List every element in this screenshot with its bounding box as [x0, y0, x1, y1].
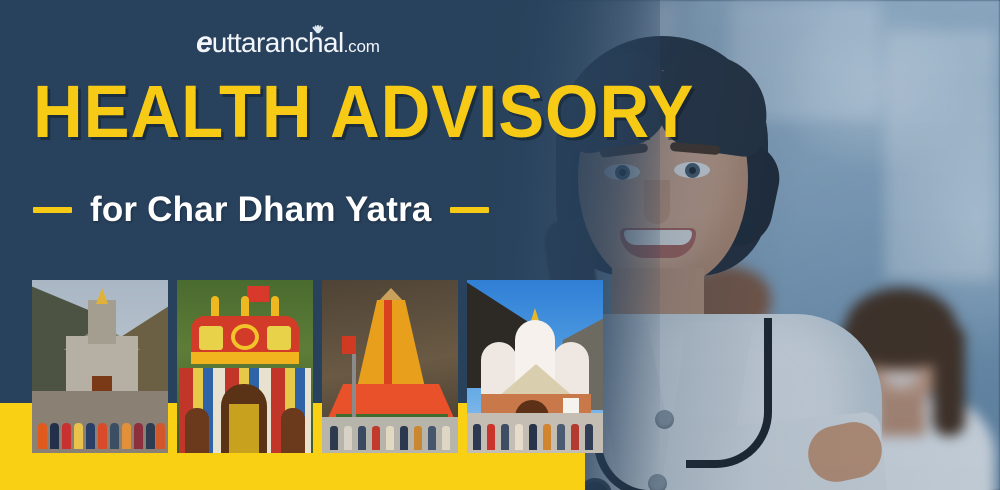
- right-dash-icon: [450, 207, 489, 213]
- temple-thumbnail-strip: [32, 280, 603, 453]
- health-advisory-banner: e uttaranchal .com HEALTH ADVISORY for C…: [0, 0, 1000, 490]
- logo-tld: .com: [344, 37, 380, 57]
- thumbnail-kedarnath[interactable]: [32, 280, 168, 453]
- window-pane: [885, 30, 995, 280]
- site-logo[interactable]: e uttaranchal .com: [196, 26, 380, 56]
- page-subtitle: for Char Dham Yatra: [90, 190, 432, 230]
- logo-prefix: e: [196, 26, 212, 60]
- thumbnail-badrinath[interactable]: [177, 280, 313, 453]
- sun-rays-icon: [302, 17, 334, 33]
- left-dash-icon: [33, 207, 72, 213]
- thumbnail-gangotri[interactable]: [467, 280, 603, 453]
- thumbnail-yamunotri[interactable]: [322, 280, 458, 453]
- subtitle-row: for Char Dham Yatra: [33, 190, 489, 230]
- page-title: HEALTH ADVISORY: [33, 77, 694, 147]
